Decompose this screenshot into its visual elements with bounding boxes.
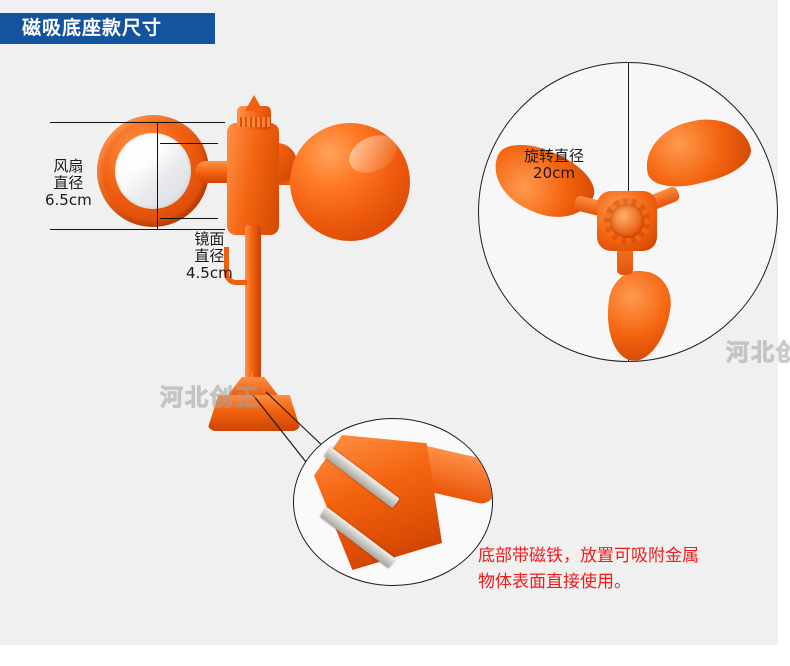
watermark-left: 河北创正 bbox=[160, 378, 260, 412]
mirror-diameter-value: 4.5cm bbox=[186, 265, 233, 282]
fan-diameter-vertical-rule bbox=[157, 122, 158, 230]
title-banner: 磁吸底座款尺寸 bbox=[0, 13, 215, 44]
magnet-caption: 底部带磁铁，放置可吸附金属 物体表面直接使用。 bbox=[478, 544, 768, 595]
body-housing bbox=[227, 123, 279, 235]
mirror-lens-surface bbox=[115, 133, 191, 209]
fan-diameter-label-line1: 风扇 bbox=[45, 158, 92, 175]
magnet-caption-line1: 底部带磁铁，放置可吸附金属 bbox=[478, 544, 768, 570]
anemometer-hub-core bbox=[610, 204, 644, 238]
rotation-diameter-value: 20cm bbox=[524, 165, 584, 182]
fan-diameter-label-line2: 直径 bbox=[45, 175, 92, 192]
rotation-diameter-label-line1: 旋转直径 bbox=[524, 148, 584, 165]
anemometer-cup-bottom bbox=[601, 267, 675, 362]
mirror-diameter-label-line2: 直径 bbox=[186, 248, 233, 265]
counterweight-ball bbox=[290, 123, 410, 241]
watermark-right: 河北创正 bbox=[726, 333, 790, 367]
body-top-tip bbox=[245, 95, 263, 111]
fan-diameter-label: 风扇 直径 6.5cm bbox=[45, 158, 92, 208]
support-pole bbox=[245, 225, 261, 390]
body-ridges bbox=[237, 117, 271, 127]
banner-title-text: 磁吸底座款尺寸 bbox=[22, 19, 162, 38]
mirror-diameter-top-rule bbox=[160, 143, 218, 144]
rotation-diameter-label: 旋转直径 20cm bbox=[524, 148, 584, 182]
rotation-diameter-detail-circle bbox=[478, 62, 778, 362]
mirror-diameter-label-line1: 镜面 bbox=[186, 231, 233, 248]
fan-diameter-value: 6.5cm bbox=[45, 192, 92, 209]
anemometer-cup-upper-right bbox=[638, 109, 756, 195]
magnet-caption-line2: 物体表面直接使用。 bbox=[478, 570, 768, 596]
magnetic-base-detail-circle bbox=[293, 418, 493, 586]
mirror-diameter-bottom-rule bbox=[160, 218, 218, 219]
mirror-diameter-label: 镜面 直径 4.5cm bbox=[186, 231, 233, 281]
product-spec-image: 磁吸底座款尺寸 风扇 直径 6.5cm 镜面 直径 4.5cm bbox=[0, 0, 790, 666]
fan-diameter-top-rule bbox=[50, 122, 225, 123]
